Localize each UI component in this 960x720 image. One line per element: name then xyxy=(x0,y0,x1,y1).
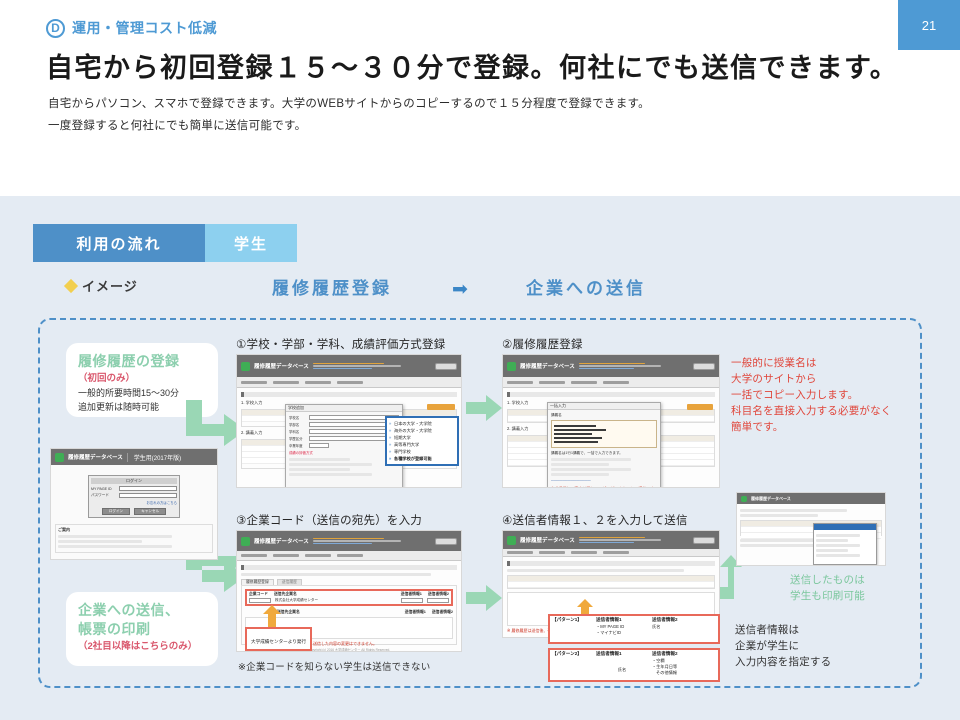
header-info-lines xyxy=(313,363,431,370)
brand-logo-icon xyxy=(241,537,250,546)
pattern-1-v1-line-2: ・マイナビID xyxy=(596,630,648,636)
panel-3-brand: 履修履歴データベース xyxy=(254,537,309,545)
panel-3-col-3b: 送信者情報2 xyxy=(432,610,453,615)
screenshot-print-preview[interactable]: 履修履歴データベース xyxy=(736,492,886,566)
card-send-title-2: 帳票の印刷 xyxy=(78,620,206,639)
card-send-sub: （2社目以降はこちらのみ） xyxy=(78,639,206,654)
panel-1-label-5: 卒業年度 xyxy=(289,443,307,448)
print-brand: 履修履歴データベース xyxy=(751,496,791,502)
pattern-2-col-2: 送信者情報2 xyxy=(652,651,678,657)
listbox-option-1[interactable]: 海外の大学・大学院 xyxy=(388,427,456,434)
print-preview-overlay[interactable] xyxy=(813,523,877,565)
brand-logo-icon xyxy=(55,453,64,462)
panel-3-sender2-input[interactable] xyxy=(427,598,449,603)
panel-3-title: ③企業コード（送信の宛先）を入力 xyxy=(236,512,422,528)
panel-3-company-name: 株式会社大学成績センター xyxy=(275,598,318,603)
pattern-2-table: 【パターン2】 送信者情報1 送信者情報2 氏名 ・空欄 ・生年月日等 その他情… xyxy=(548,648,720,682)
panel-2-bulk-textarea[interactable] xyxy=(551,420,657,448)
pattern-1-col-2: 送信者情報2 xyxy=(652,617,678,623)
copy-note-line-2: 大学のサイトから xyxy=(731,371,941,387)
panel-3-tab-1[interactable]: 履修履歴登録 xyxy=(241,579,274,585)
panel-1-label-0: 学校名 xyxy=(289,415,307,420)
listbox-option-2[interactable]: 短期大学 xyxy=(388,434,456,441)
listbox-option-4[interactable]: 専門学校 xyxy=(388,448,456,455)
panel-3-page-heading xyxy=(241,565,457,570)
login-dialog-title: ログイン xyxy=(91,478,177,484)
panel-2-modal-hint: 講義名は1行1講義で、一括で入力できます。 xyxy=(551,451,657,456)
panel-1-label-4: 学歴区分 xyxy=(289,436,307,441)
pattern-1-v2: 氏名 xyxy=(652,624,660,636)
panel-1-input-5[interactable] xyxy=(309,443,329,448)
print-note-line-2: 学生も印刷可能 xyxy=(790,588,950,604)
pattern-2-label: 【パターン2】 xyxy=(552,651,592,657)
panel-1-red-note: 成績の評価方式 xyxy=(289,451,399,456)
panel-4-navbar[interactable] xyxy=(503,549,719,557)
green-arrow-right-2 xyxy=(466,585,502,611)
copy-note-line-4: 科目名を直接入力する必要がなく xyxy=(731,403,941,419)
diamond-icon xyxy=(64,278,78,292)
flow-step-right-title: 企業への送信 xyxy=(526,274,646,299)
panel-2-navbar[interactable] xyxy=(503,377,719,388)
login-brand: 履修履歴データベース xyxy=(68,453,123,461)
card-register-sub: （初回のみ） xyxy=(78,371,206,386)
sender-note-line-1: 送信者情報は xyxy=(735,622,935,638)
page-subtitle: 自宅からパソコン、スマホで登録できます。大学のWEBサイトからのコピーするので１… xyxy=(48,93,928,137)
panel-1-title: ①学校・学部・学科、成績評価方式登録 xyxy=(236,336,445,352)
page-title: 自宅から初回登録１５〜３０分で登録。何社にでも送信できます。 xyxy=(46,46,926,85)
subtitle-line-1: 自宅からパソコン、スマホで登録できます。大学のWEBサイトからのコピーするので１… xyxy=(48,93,928,115)
brand-logo-icon xyxy=(507,536,516,545)
panel-3-sender1-input[interactable] xyxy=(401,598,423,603)
panel-3-col-2: 送信者情報1 xyxy=(401,592,422,597)
panel-3-col-2b: 送信者情報1 xyxy=(405,610,426,615)
sender-note-line-2: 企業が学生に xyxy=(735,638,935,654)
panel-3-code-input[interactable] xyxy=(249,598,271,603)
logout-button[interactable] xyxy=(693,537,715,544)
copy-note-line-3: 一括でコピー入力します。 xyxy=(731,387,941,403)
flow-arrow-icon: ➡ xyxy=(452,278,468,301)
annotation-copy-input: 一般的に授業名は 大学のサイトから 一括でコピー入力します。 科目名を直接入力す… xyxy=(731,355,941,435)
panel-1-page-heading xyxy=(241,392,457,397)
pattern-1-label: 【パターン1】 xyxy=(552,617,592,623)
tab-usage-flow[interactable]: 利用の流れ xyxy=(33,224,205,262)
annotation-sender-info: 送信者情報は 企業が学生に 入力内容を指定する xyxy=(735,622,935,670)
login-submit-button[interactable]: ログイン xyxy=(102,508,130,515)
subtitle-line-2: 一度登録すると何社にでも簡単に送信可能です。 xyxy=(48,115,928,137)
section-kicker-label: 運用・管理コスト低減 xyxy=(72,18,217,38)
panel-3-tab-2[interactable]: 送信履歴 xyxy=(277,579,302,585)
login-field-1-input[interactable] xyxy=(119,486,177,491)
green-arrow-right-1 xyxy=(466,395,502,421)
panel-2-brand: 履修履歴データベース xyxy=(520,362,575,370)
section-kicker: D 運用・管理コスト低減 xyxy=(46,18,217,38)
login-text-row xyxy=(58,540,142,543)
brand-logo-icon xyxy=(241,362,250,371)
page-number: 21 xyxy=(922,18,936,33)
login-field-2-input[interactable] xyxy=(119,493,177,498)
panel-1-label-1: 学部名 xyxy=(289,422,307,427)
copy-note-line-1: 一般的に授業名は xyxy=(731,355,941,371)
brand-logo-icon xyxy=(741,496,747,502)
panel-2-red-note: ※成績評価の審査は正しくコピーができないと、講義の内容が正しく表示されない場合が… xyxy=(551,486,657,488)
flow-step-left-title: 履修履歴登録 xyxy=(272,274,392,299)
header-info-lines xyxy=(579,537,689,544)
panel-1-brand: 履修履歴データベース xyxy=(254,362,309,370)
panel-1-modal-title: 学校追加 xyxy=(288,405,304,411)
panel-4-page-heading xyxy=(507,561,715,566)
header-info-lines xyxy=(313,538,431,545)
login-edition: 学生用(2017年版) xyxy=(127,453,181,462)
logout-button[interactable] xyxy=(435,538,457,545)
panel-1-school-type-listbox[interactable]: 日本の大学・大学院 海外の大学・大学院 短期大学 高等専門大学 専門学校 各種学… xyxy=(385,416,459,466)
annotation-print-available: 送信したものは 学生も印刷可能 xyxy=(790,572,950,604)
logout-button[interactable] xyxy=(435,363,457,370)
panel-1-navbar[interactable] xyxy=(237,377,461,388)
image-label-text: イメージ xyxy=(82,276,138,295)
listbox-option-5[interactable]: 各種学校が登録可能 xyxy=(388,455,456,462)
listbox-option-0[interactable]: 日本の大学・大学院 xyxy=(388,420,456,427)
header-info-lines xyxy=(579,363,689,370)
panel-4-brand: 履修履歴データベース xyxy=(520,536,575,544)
panel-3-hint-text: 大学成績センターより発行 xyxy=(251,639,306,644)
image-label: イメージ xyxy=(66,276,138,295)
panel-3-col-1: 送信先企業名 xyxy=(274,592,297,597)
brand-logo-icon xyxy=(507,362,516,371)
panel-3-hint-callout: 大学成績センターより発行 xyxy=(245,627,312,651)
page-number-tab: 21 xyxy=(898,0,960,50)
pattern-1-table: 【パターン1】 送信者情報1 送信者情報2 ・MY PAGE ID ・マイナビI… xyxy=(548,614,720,644)
tab-student[interactable]: 学生 xyxy=(205,224,297,262)
card-register-title: 履修履歴の登録 xyxy=(78,352,206,371)
panel-1-primary-button[interactable] xyxy=(427,404,455,410)
panel-2-page-heading xyxy=(507,392,715,397)
copy-note-line-5: 簡単です。 xyxy=(731,419,941,435)
panel-3-col-3: 送信者情報2 xyxy=(428,592,449,597)
slide-root: 21 D 運用・管理コスト低減 自宅から初回登録１５〜３０分で登録。何社にでも送… xyxy=(0,0,960,720)
screenshot-login[interactable]: 履修履歴データベース 学生用(2017年版) ログイン MY PAGE ID パ… xyxy=(50,448,218,560)
pattern-2-v2-line-3: その他情報 xyxy=(652,670,677,676)
login-text-row xyxy=(58,545,172,548)
login-field-2-label: パスワード xyxy=(91,493,117,498)
login-cancel-button[interactable]: キャンセル xyxy=(134,508,166,515)
pattern-2-col-1: 送信者情報1 xyxy=(596,651,648,657)
pattern-2-v1: 氏名 xyxy=(618,667,626,672)
panel-3-footnote: ※企業コードを知らない学生は送信できない xyxy=(238,660,430,676)
panel-2-modal-title: 一括入力 xyxy=(550,403,566,409)
panel-3-col-0: 企業コード xyxy=(249,592,268,597)
login-field-1-label: MY PAGE ID xyxy=(91,487,117,491)
sender-note-line-3: 入力内容を指定する xyxy=(735,654,935,670)
panel-2-modal[interactable]: 一括入力 講義名 講義名は1行1講義で、一括で入力できます。 xyxy=(547,402,661,488)
panel-2-modal-field: 講義名 xyxy=(551,413,657,418)
screenshot-step-2[interactable]: 履修履歴データベース 1. 学校入力 2. 講義入力 xyxy=(502,354,720,488)
print-note-line-1: 送信したものは xyxy=(790,572,950,588)
panel-4-title: ④送信者情報１、２を入力して送信 xyxy=(502,512,688,528)
section-badge-icon: D xyxy=(46,19,65,38)
screenshot-step-1[interactable]: 履修履歴データベース 1. 学校入力 2. 講義入力 xyxy=(236,354,462,488)
pattern-1-col-1: 送信者情報1 xyxy=(596,617,648,623)
listbox-option-3[interactable]: 高等専門大学 xyxy=(388,441,456,448)
panel-3-up-arrow-icon xyxy=(263,605,281,627)
logout-button[interactable] xyxy=(693,363,715,370)
login-section-label: ご案内 xyxy=(58,527,210,533)
panel-1-label-2: 学科名 xyxy=(289,429,307,434)
panel-3-navbar[interactable] xyxy=(237,551,461,561)
login-text-row xyxy=(58,535,172,538)
panel-2-primary-button[interactable] xyxy=(687,404,713,410)
screenshot-step-3[interactable]: 履修履歴データベース 履修履歴登録 送信履歴 企業コード 送 xyxy=(236,530,462,652)
panel-2-title: ②履修履歴登録 xyxy=(502,336,583,352)
login-forgot-link[interactable]: お忘れの方はこちら xyxy=(91,500,177,505)
panel-tabs: 利用の流れ 学生 xyxy=(33,224,297,262)
